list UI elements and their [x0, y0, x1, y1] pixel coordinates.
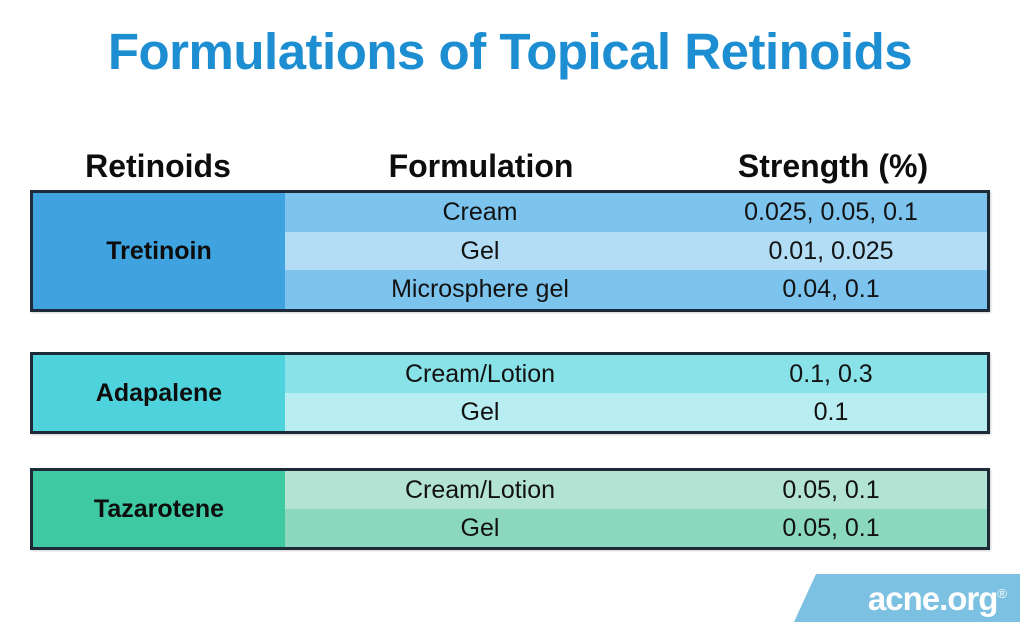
formulation-cell: Gel	[285, 237, 675, 266]
strength-cell: 0.025, 0.05, 0.1	[675, 198, 987, 227]
retinoid-name-cell: Adapalene	[33, 355, 285, 431]
formulation-cell: Cream/Lotion	[285, 476, 675, 505]
column-header-strength: Strength (%)	[676, 147, 990, 185]
formulation-cell: Cream	[285, 198, 675, 227]
table-row: Microsphere gel 0.04, 0.1	[285, 270, 987, 309]
formulation-cell: Cream/Lotion	[285, 360, 675, 389]
formulation-rows: Cream 0.025, 0.05, 0.1 Gel 0.01, 0.025 M…	[285, 193, 987, 309]
formulation-cell: Microsphere gel	[285, 275, 675, 304]
acne-org-logo-text: acne.org®	[868, 582, 1006, 615]
column-headers: Retinoids Formulation Strength (%)	[30, 147, 990, 187]
acne-org-logo-banner[interactable]: acne.org®	[794, 574, 1020, 622]
column-header-formulation: Formulation	[286, 147, 676, 185]
logo-wordmark: acne.org	[868, 580, 998, 617]
column-header-retinoids: Retinoids	[30, 147, 286, 185]
strength-cell: 0.1	[675, 398, 987, 427]
retinoid-name-cell: Tazarotene	[33, 471, 285, 547]
table-row: Cream/Lotion 0.05, 0.1	[285, 471, 987, 509]
formulation-rows: Cream/Lotion 0.05, 0.1 Gel 0.05, 0.1	[285, 471, 987, 547]
table-row: Cream/Lotion 0.1, 0.3	[285, 355, 987, 393]
retinoid-name-cell: Tretinoin	[33, 193, 285, 309]
formulation-cell: Gel	[285, 514, 675, 543]
strength-cell: 0.05, 0.1	[675, 476, 987, 505]
strength-cell: 0.1, 0.3	[675, 360, 987, 389]
table-row: Gel 0.01, 0.025	[285, 232, 987, 271]
retinoid-block-tazarotene: Tazarotene Cream/Lotion 0.05, 0.1 Gel 0.…	[30, 468, 990, 550]
page-title: Formulations of Topical Retinoids	[0, 24, 1020, 80]
formulation-cell: Gel	[285, 398, 675, 427]
retinoid-block-tretinoin: Tretinoin Cream 0.025, 0.05, 0.1 Gel 0.0…	[30, 190, 990, 312]
strength-cell: 0.05, 0.1	[675, 514, 987, 543]
strength-cell: 0.01, 0.025	[675, 237, 987, 266]
registered-trademark-icon: ®	[997, 586, 1006, 601]
retinoid-block-adapalene: Adapalene Cream/Lotion 0.1, 0.3 Gel 0.1	[30, 352, 990, 434]
table-row: Cream 0.025, 0.05, 0.1	[285, 193, 987, 232]
table-row: Gel 0.1	[285, 393, 987, 431]
strength-cell: 0.04, 0.1	[675, 275, 987, 304]
table-row: Gel 0.05, 0.1	[285, 509, 987, 547]
formulation-rows: Cream/Lotion 0.1, 0.3 Gel 0.1	[285, 355, 987, 431]
